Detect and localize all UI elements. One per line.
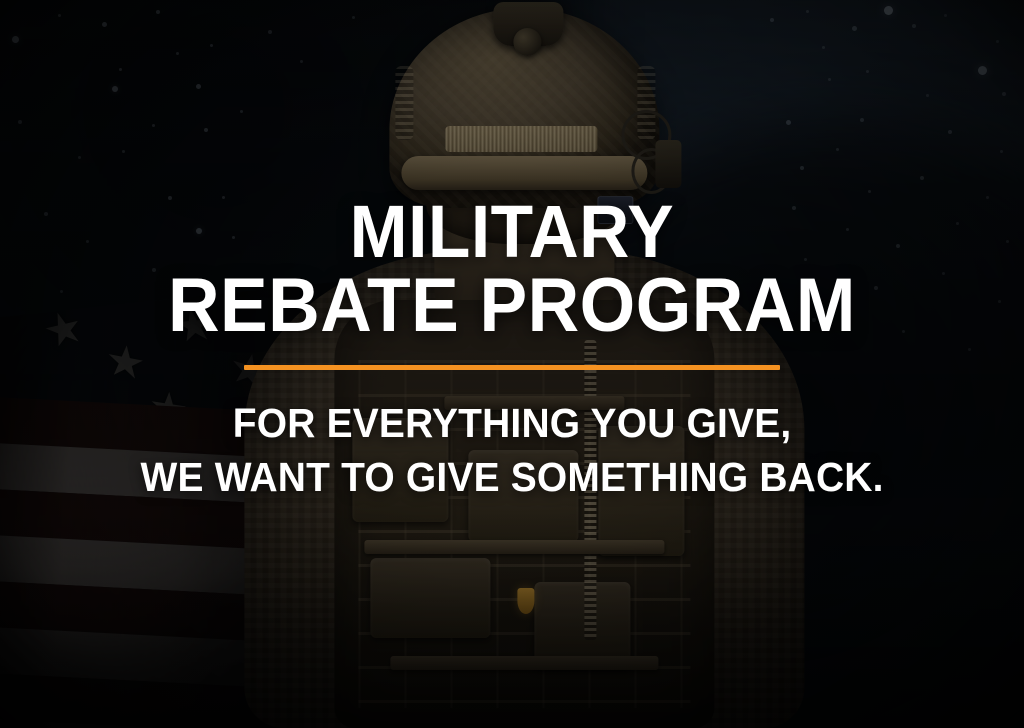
banner-content: MILITARY REBATE PROGRAM FOR EVERYTHING Y… [0,0,1024,728]
headline-line-1: MILITARY [350,190,674,273]
headline: MILITARY REBATE PROGRAM [168,196,856,343]
subheadline-line-1: FOR EVERYTHING YOU GIVE, [140,396,883,450]
subheadline-line-2: WE WANT TO GIVE SOMETHING BACK. [140,450,883,504]
subheadline: FOR EVERYTHING YOU GIVE, WE WANT TO GIVE… [140,396,883,504]
orange-divider [244,365,780,370]
military-rebate-banner: ★★★★★★ [0,0,1024,728]
headline-line-2: REBATE PROGRAM [168,269,856,343]
